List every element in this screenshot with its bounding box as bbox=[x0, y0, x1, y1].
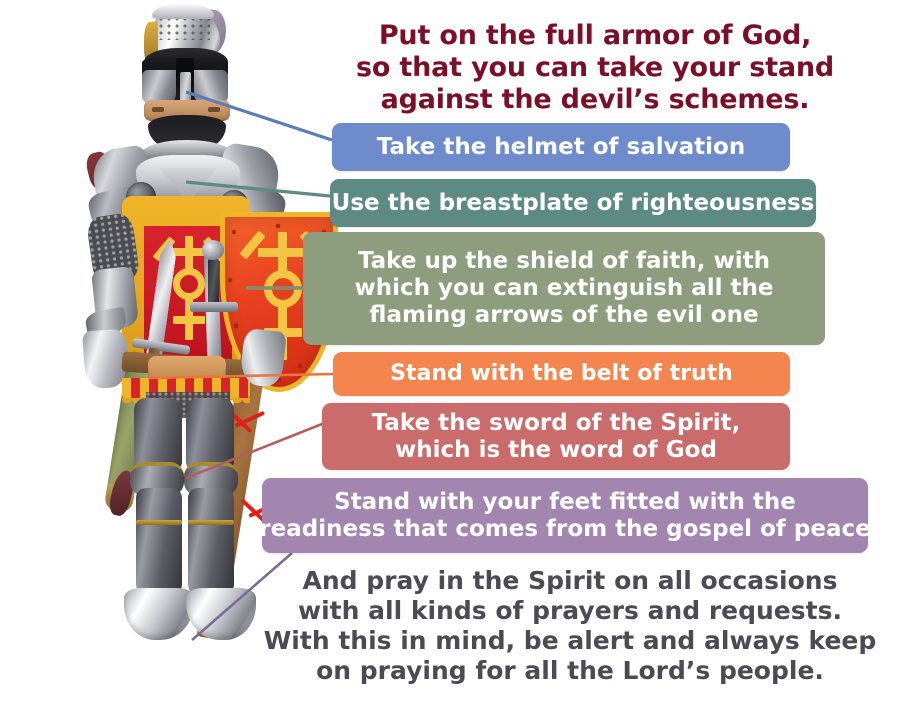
helmet-visor-plate-right bbox=[194, 70, 228, 104]
banner-shield-line-3: flaming arrows of the evil one bbox=[355, 302, 774, 329]
sword-grip-secondary bbox=[208, 258, 219, 306]
banner-sword-line-1: Take the sword of the Spirit, bbox=[372, 410, 741, 437]
banner-breastplate-of-righteousness[interactable]: Use the breastplate of righteousness bbox=[330, 179, 816, 227]
armor-of-god-infographic: Put on the full armor of God, so that yo… bbox=[0, 0, 900, 707]
heading-line-3: against the devil’s schemes. bbox=[330, 84, 860, 116]
sword-crossguard-secondary bbox=[190, 302, 238, 312]
banner-shield-line-2: which you can extinguish all the bbox=[355, 275, 774, 302]
greave-left bbox=[136, 488, 182, 598]
heading-line-2: so that you can take your stand bbox=[330, 52, 860, 84]
banner-shield-of-faith[interactable]: Take up the shield of faith, with which … bbox=[303, 232, 825, 345]
footer-line-3: With this in mind, be alert and always k… bbox=[250, 626, 890, 656]
banner-sword-line-2: which is the word of God bbox=[372, 437, 741, 464]
greave-gold-band-right bbox=[188, 520, 234, 525]
banner-feet-line-1: Stand with your feet fitted with the bbox=[259, 489, 870, 516]
page-title: Put on the full armor of God, so that yo… bbox=[330, 20, 860, 116]
banner-shield-line-1: Take up the shield of faith, with bbox=[355, 248, 774, 275]
banner-helmet-of-salvation[interactable]: Take the helmet of salvation bbox=[332, 123, 790, 171]
footer-line-1: And pray in the Spirit on all occasions bbox=[250, 566, 890, 596]
helmet-crest bbox=[152, 3, 214, 19]
sword-pommel-secondary bbox=[202, 240, 224, 260]
banner-belt-of-truth[interactable]: Stand with the belt of truth bbox=[333, 352, 790, 396]
cuisse-left bbox=[134, 398, 182, 470]
greave-right bbox=[188, 488, 234, 598]
footer-line-4: on praying for all the Lord’s people. bbox=[250, 656, 890, 686]
banner-gospel-of-peace[interactable]: Stand with your feet fitted with the rea… bbox=[262, 478, 868, 553]
cuisse-right bbox=[186, 398, 234, 470]
banner-belt-line-1: Stand with the belt of truth bbox=[390, 361, 733, 387]
greave-gold-band-left bbox=[136, 520, 182, 525]
footer-line-2: with all kinds of prayers and requests. bbox=[250, 596, 890, 626]
heading-line-1: Put on the full armor of God, bbox=[330, 20, 860, 52]
sabaton-left bbox=[124, 588, 194, 640]
helmet-visor-plate-left bbox=[142, 70, 176, 104]
banner-breastplate-line-1: Use the breastplate of righteousness bbox=[332, 190, 815, 217]
banner-sword-of-the-spirit[interactable]: Take the sword of the Spirit, which is t… bbox=[322, 403, 790, 470]
closing-verse: And pray in the Spirit on all occasions … bbox=[250, 566, 890, 686]
banner-feet-line-2: readiness that comes from the gospel of … bbox=[259, 516, 870, 543]
banner-helmet-line-1: Take the helmet of salvation bbox=[377, 134, 745, 161]
